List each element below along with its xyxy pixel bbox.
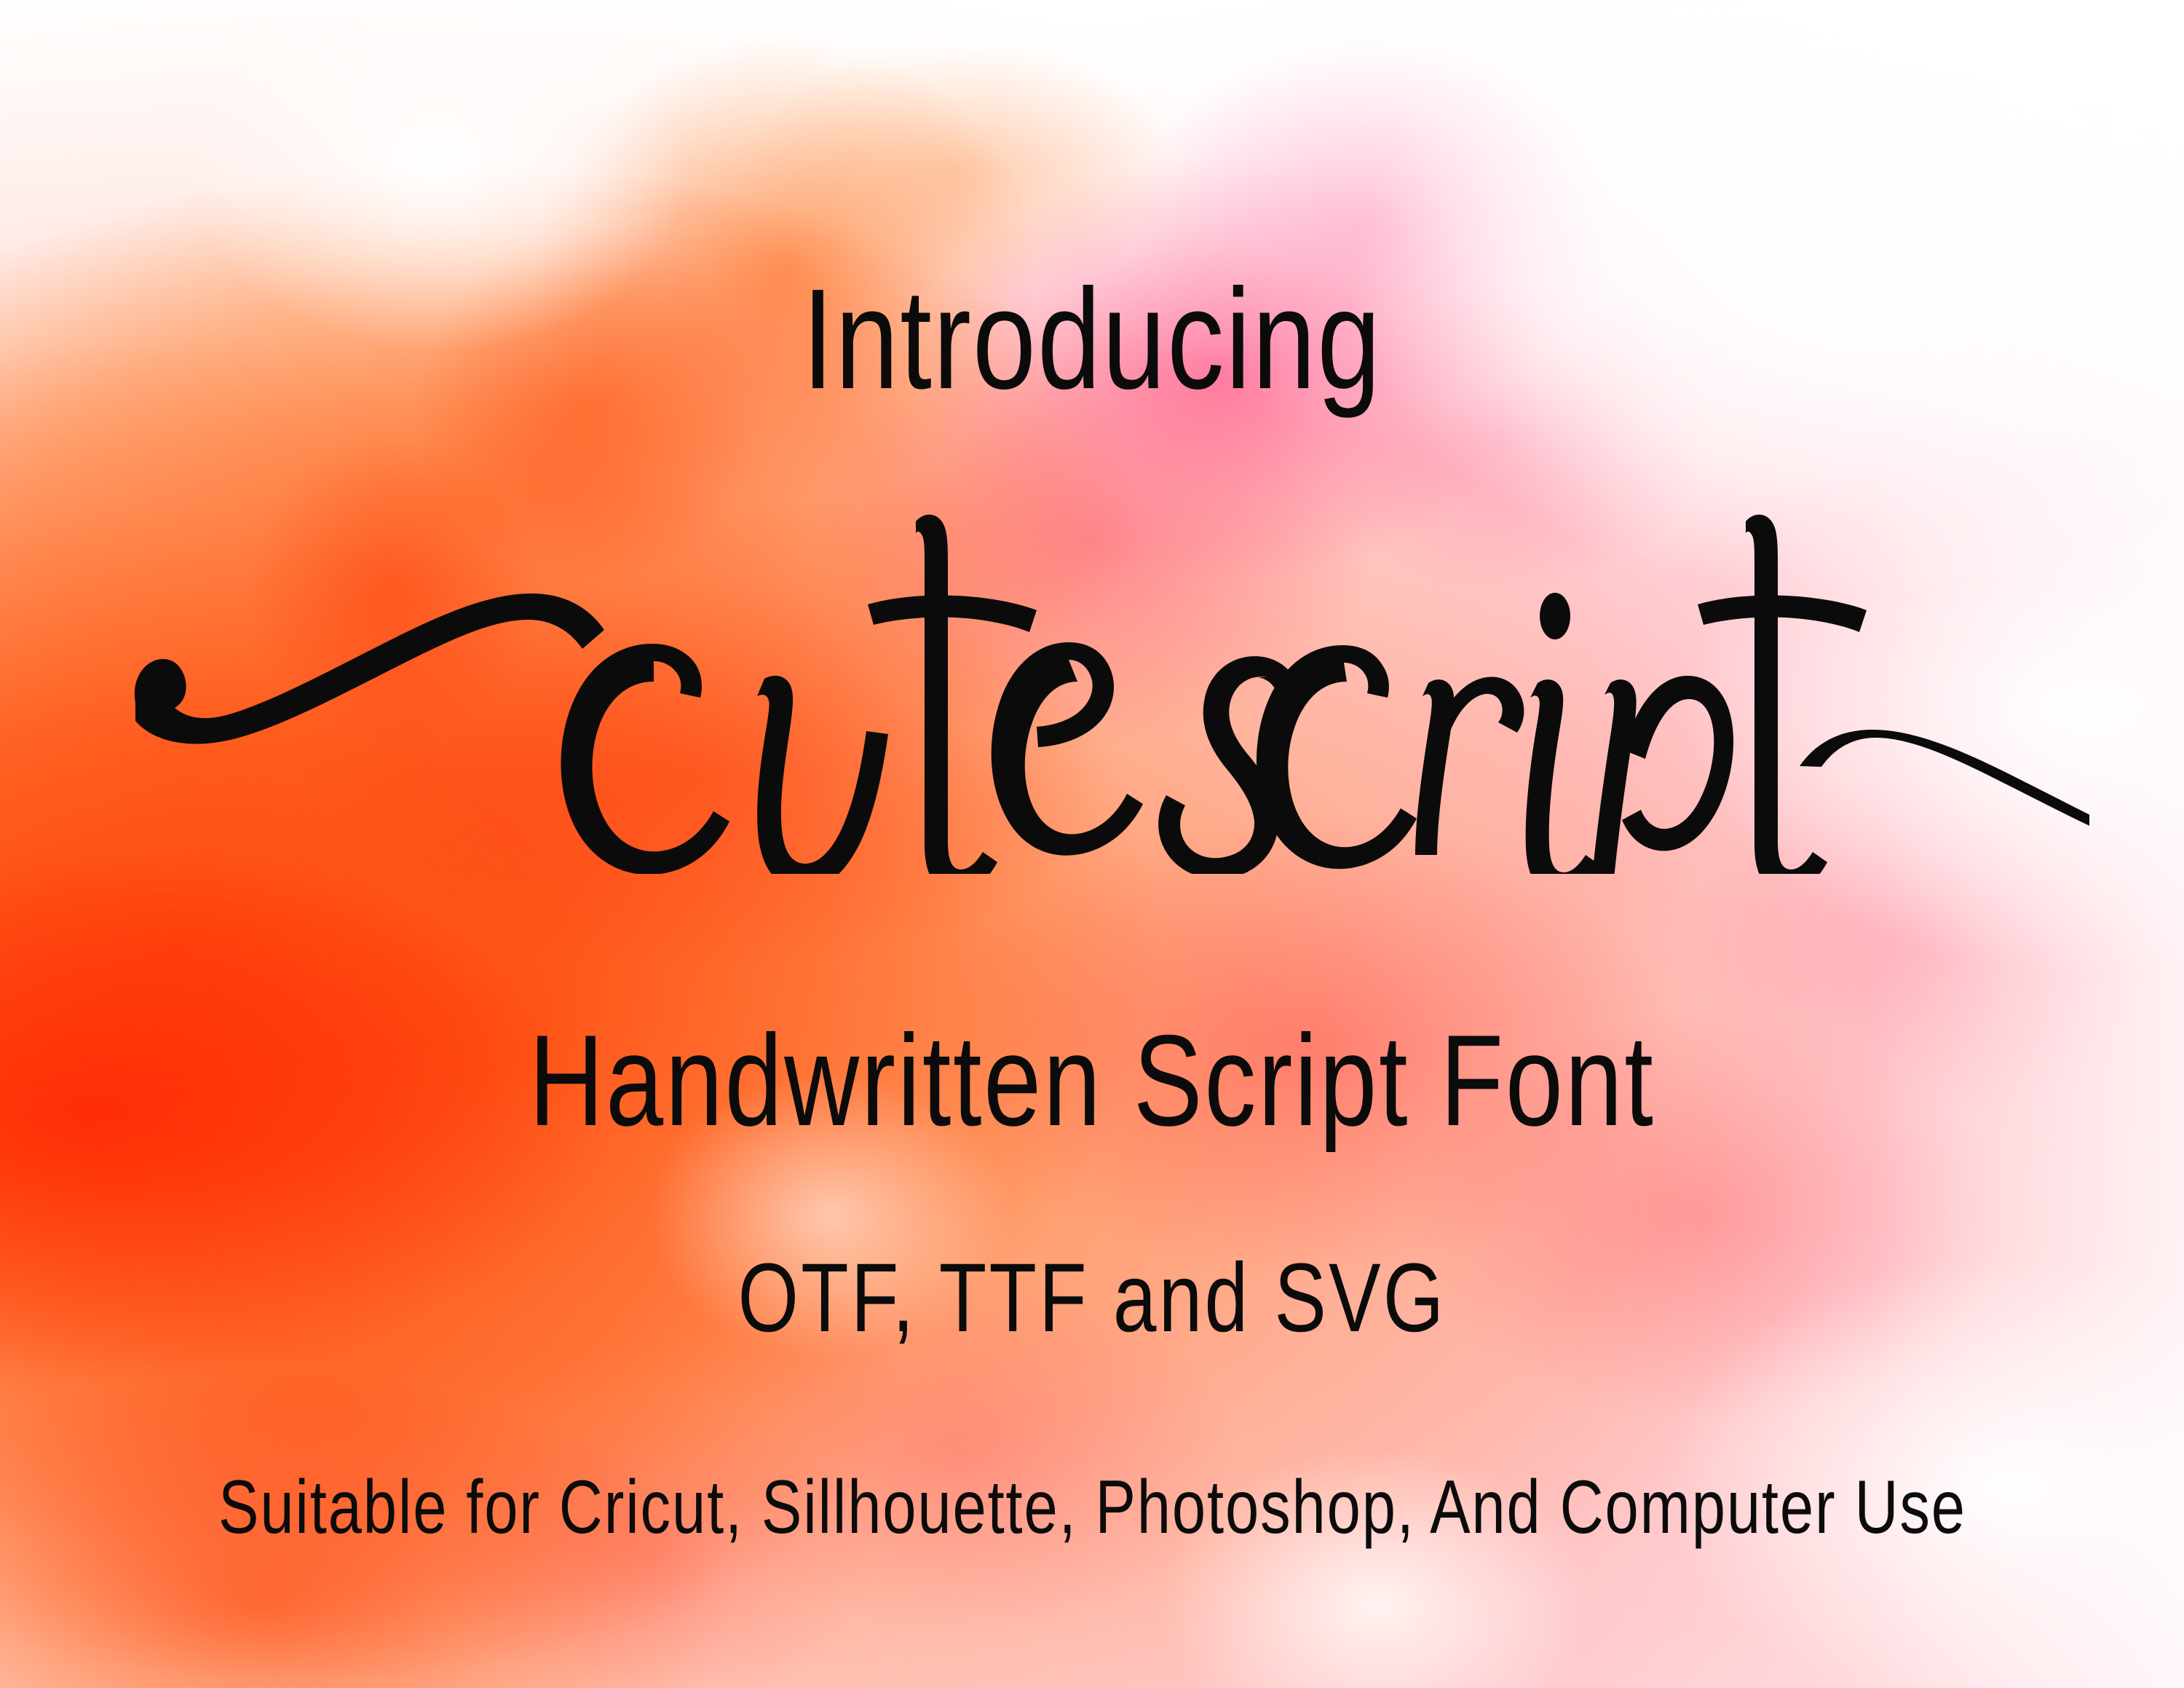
script-letter-r [1415,677,1524,855]
tagline: Suitable for Cricut, Sillhouette, Photos… [218,1470,1966,1545]
left-flourish-swash [135,593,604,744]
script-letter-c [561,644,729,874]
script-letter-t2 [1746,515,1827,874]
headline-introducing: Introducing [218,268,1966,411]
script-wordmark-svg [109,510,2089,874]
script-letter-p [1587,676,1733,874]
formats-line: OTF, TTF and SVG [218,1250,1966,1347]
script-wordmark [109,510,2089,874]
script-letter-t-crossbar [868,596,1037,633]
poster-canvas: Introducing [0,0,2184,1688]
script-letter-t2-crossbar [1698,596,1867,633]
script-letter-t [916,515,997,874]
subtitle-handwritten-script-font: Handwritten Script Font [218,1016,1966,1145]
script-letter-i [1526,679,1600,874]
script-letter-i-dot [1540,593,1570,639]
poster-content: Introducing [0,0,2184,1688]
right-flourish-swash [1800,730,2089,862]
script-letter-u [757,676,888,874]
script-letter-c2 [1257,645,1417,869]
script-letter-e [992,642,1143,856]
